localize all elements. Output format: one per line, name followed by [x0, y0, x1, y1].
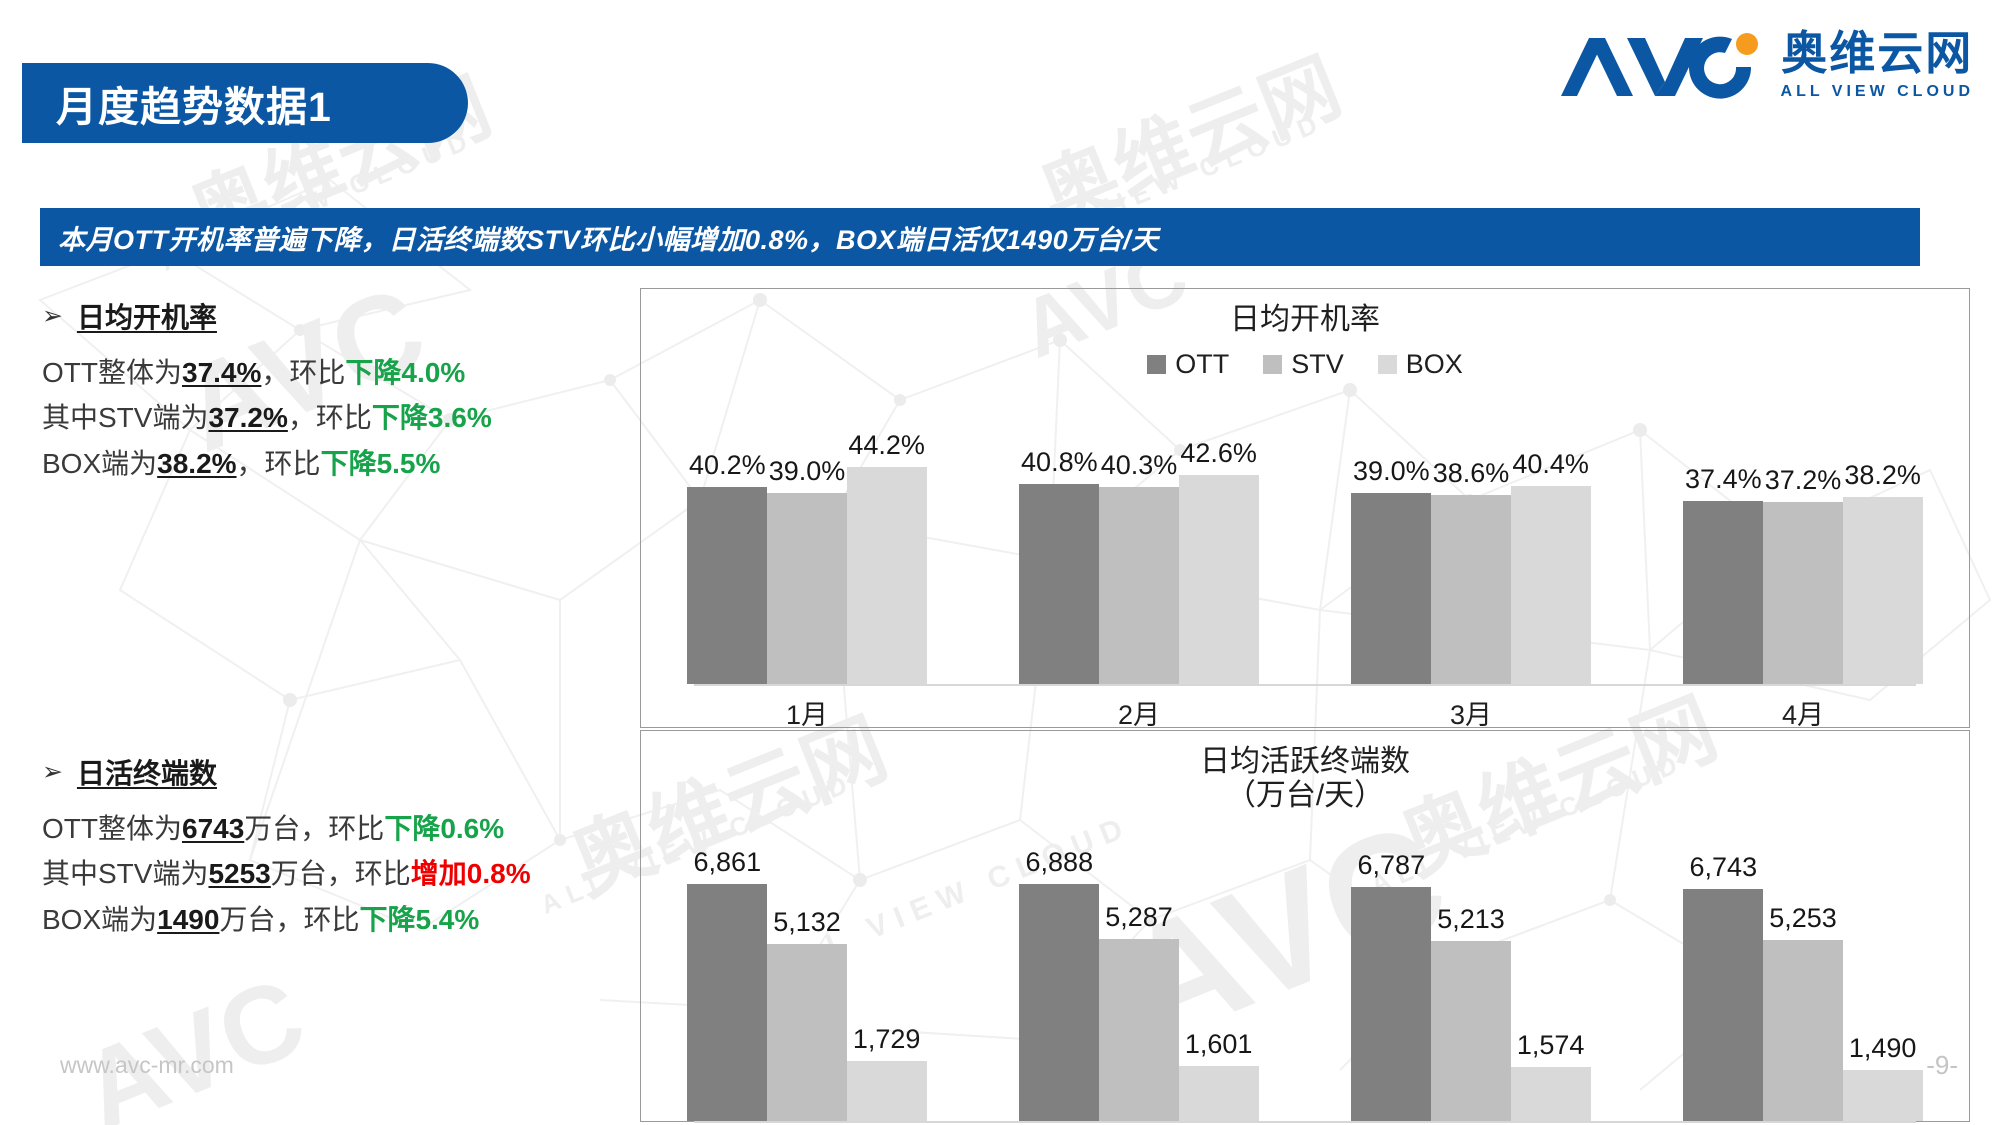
chart-axis-line	[694, 1121, 1916, 1123]
x-tick-3月: 3月	[1305, 693, 1637, 732]
page-title: 月度趋势数据1	[22, 73, 332, 133]
bar-cluster: 6,7875,2131,574	[1351, 859, 1590, 1121]
bar-cluster: 6,8615,1321,729	[687, 859, 926, 1121]
stat-value: 38.2%	[157, 448, 236, 479]
legend-swatch-icon	[1263, 355, 1282, 374]
slide-title-badge: 月度趋势数据1	[22, 63, 468, 143]
stat-middle: 万台，环比	[219, 904, 359, 935]
footer-url: www.avc-mr.com	[60, 1052, 234, 1079]
bar-value-label: 39.0%	[769, 456, 846, 487]
avc-chinese-name: 奥维云网 ALL VIEW CLOUD	[1781, 30, 1974, 101]
chart-plot-area: 40.2%39.0%44.2%40.8%40.3%42.6%39.0%38.6%…	[641, 439, 1969, 684]
chart-x-axis-labels: 1月2月3月4月	[641, 693, 1969, 732]
bar-stv-1月: 39.0%	[767, 439, 847, 684]
legend-label: OTT	[1175, 349, 1229, 380]
bar-box-2月: 1,601	[1179, 859, 1259, 1121]
chart-panel-active-terminals: 日均活跃终端数 （万台/天） 6,8615,1321,7296,8885,287…	[640, 730, 1970, 1122]
chart-title: 日均活跃终端数 （万台/天）	[641, 745, 1969, 812]
bar-rect	[1763, 940, 1843, 1121]
bar-stv-3月: 38.6%	[1431, 439, 1511, 684]
stat-middle: ，环比	[288, 402, 372, 433]
bar-ott-1月: 40.2%	[687, 439, 767, 684]
bar-cluster: 6,7435,2531,490	[1683, 859, 1922, 1121]
bar-box-4月: 1,490	[1843, 859, 1923, 1121]
chart-group-4月: 6,7435,2531,490	[1637, 859, 1969, 1121]
x-tick-1月: 1月	[641, 693, 973, 732]
section-heading-active-terminals: ➢ 日活终端数	[42, 752, 662, 792]
stat-value: 5253	[208, 858, 270, 889]
stat-line: 其中STV端为37.2%，环比下降3.6%	[42, 395, 642, 440]
bar-value-label: 39.0%	[1353, 456, 1430, 487]
section-label: 日活终端数	[77, 752, 217, 792]
stat-value: 6743	[182, 813, 244, 844]
bar-stv-2月: 40.3%	[1099, 439, 1179, 684]
bar-ott-4月: 6,743	[1683, 859, 1763, 1121]
stat-middle: 万台，环比	[244, 813, 384, 844]
bar-value-label: 38.6%	[1433, 458, 1510, 489]
bar-ott-2月: 40.8%	[1019, 439, 1099, 684]
legend-swatch-icon	[1378, 355, 1397, 374]
stat-prefix: OTT整体为	[42, 813, 182, 844]
avc-logo: 奥维云网 ALL VIEW CLOUD	[1555, 22, 1974, 108]
bar-rect	[1179, 475, 1259, 684]
chart-legend: OTTSTVBOX	[641, 349, 1969, 380]
stat-prefix: 其中STV端为	[42, 402, 208, 433]
bar-value-label: 1,574	[1517, 1030, 1585, 1061]
stat-prefix: BOX端为	[42, 904, 157, 935]
arrow-bullet-icon: ➢	[42, 760, 63, 785]
bar-rect	[847, 1061, 927, 1121]
bar-ott-2月: 6,888	[1019, 859, 1099, 1121]
chart-group-3月: 6,7875,2131,574	[1305, 859, 1637, 1121]
summary-banner: 本月OTT开机率普遍下降，日活终端数STV环比小幅增加0.8%，BOX端日活仅1…	[40, 208, 1920, 266]
bar-value-label: 6,888	[1026, 847, 1094, 878]
stat-middle: ，环比	[237, 448, 321, 479]
bar-rect	[1511, 486, 1591, 684]
bar-rect	[1099, 939, 1179, 1121]
legend-label: BOX	[1406, 349, 1463, 380]
legend-item-ott: OTT	[1147, 349, 1229, 380]
slide-canvas: 奥维云网 ALL VIEW CLOUD 奥维云网 ALL VIEW CLOUD …	[0, 0, 2000, 1125]
bar-value-label: 6,861	[694, 847, 762, 878]
chart-title-unit: （万台/天）	[641, 779, 1969, 813]
bar-rect	[1351, 887, 1431, 1121]
section-heading-boot-rate: ➢ 日均开机率	[42, 296, 642, 336]
bar-rect	[1763, 502, 1843, 684]
bar-value-label: 38.2%	[1844, 460, 1921, 491]
logo-cn-text: 奥维云网	[1781, 30, 1973, 76]
bar-value-label: 44.2%	[848, 430, 925, 461]
bar-rect	[1099, 487, 1179, 684]
bar-rect	[1431, 495, 1511, 684]
stat-value: 37.2%	[208, 402, 287, 433]
bar-stv-1月: 5,132	[767, 859, 847, 1121]
stat-trend: 下降3.6%	[372, 402, 492, 433]
bar-value-label: 5,287	[1105, 902, 1173, 933]
chart-group-2月: 40.8%40.3%42.6%	[973, 439, 1305, 684]
legend-label: STV	[1291, 349, 1344, 380]
legend-item-box: BOX	[1378, 349, 1463, 380]
bar-value-label: 1,490	[1849, 1033, 1917, 1064]
bar-box-3月: 1,574	[1511, 859, 1591, 1121]
bar-rect	[1511, 1067, 1591, 1121]
bar-cluster: 37.4%37.2%38.2%	[1683, 439, 1922, 684]
stat-prefix: OTT整体为	[42, 357, 182, 388]
bar-rect	[847, 467, 927, 684]
bar-stv-3月: 5,213	[1431, 859, 1511, 1121]
stat-value: 1490	[157, 904, 219, 935]
stat-line: BOX端为1490万台，环比下降5.4%	[42, 897, 662, 942]
x-tick-2月: 2月	[973, 693, 1305, 732]
stat-middle: 万台，环比	[271, 858, 411, 889]
bar-rect	[1683, 501, 1763, 684]
arrow-bullet-icon: ➢	[42, 304, 63, 329]
bar-cluster: 40.8%40.3%42.6%	[1019, 439, 1258, 684]
bar-value-label: 42.6%	[1180, 438, 1257, 469]
chart-group-3月: 39.0%38.6%40.4%	[1305, 439, 1637, 684]
bar-value-label: 1,729	[853, 1024, 921, 1055]
chart-title-main: 日均活跃终端数	[641, 745, 1969, 779]
bar-rect	[1431, 941, 1511, 1121]
bar-cluster: 39.0%38.6%40.4%	[1351, 439, 1590, 684]
stat-prefix: BOX端为	[42, 448, 157, 479]
bar-cluster: 6,8885,2871,601	[1019, 859, 1258, 1121]
bar-stv-4月: 5,253	[1763, 859, 1843, 1121]
stat-trend: 增加0.8%	[411, 858, 531, 889]
bar-value-label: 5,213	[1437, 904, 1505, 935]
bar-ott-3月: 6,787	[1351, 859, 1431, 1121]
bar-box-1月: 1,729	[847, 859, 927, 1121]
bar-value-label: 6,743	[1690, 852, 1758, 883]
bar-value-label: 40.2%	[689, 450, 766, 481]
insights-block-active-terminals: ➢ 日活终端数 OTT整体为6743万台，环比下降0.6% 其中STV端为525…	[42, 752, 662, 942]
bar-stv-2月: 5,287	[1099, 859, 1179, 1121]
bar-rect	[687, 487, 767, 684]
stat-value: 37.4%	[182, 357, 261, 388]
avc-wordmark-icon	[1555, 30, 1767, 100]
bar-value-label: 5,132	[773, 907, 841, 938]
bar-value-label: 6,787	[1358, 850, 1426, 881]
chart-group-4月: 37.4%37.2%38.2%	[1637, 439, 1969, 684]
bar-box-4月: 38.2%	[1843, 439, 1923, 684]
bar-ott-4月: 37.4%	[1683, 439, 1763, 684]
stat-line: 其中STV端为5253万台，环比增加0.8%	[42, 851, 662, 896]
legend-item-stv: STV	[1263, 349, 1344, 380]
stat-trend: 下降0.6%	[384, 813, 504, 844]
bar-box-2月: 42.6%	[1179, 439, 1259, 684]
stat-trend: 下降5.4%	[359, 904, 479, 935]
stat-line: BOX端为38.2%，环比下降5.5%	[42, 441, 642, 486]
bar-rect	[1351, 493, 1431, 684]
bar-value-label: 37.2%	[1765, 465, 1842, 496]
bar-ott-1月: 6,861	[687, 859, 767, 1121]
chart-group-2月: 6,8885,2871,601	[973, 859, 1305, 1121]
stat-trend: 下降4.0%	[345, 357, 465, 388]
bar-value-label: 40.3%	[1101, 450, 1178, 481]
bar-box-1月: 44.2%	[847, 439, 927, 684]
bar-value-label: 40.8%	[1021, 447, 1098, 478]
chart-group-1月: 40.2%39.0%44.2%	[641, 439, 973, 684]
bar-cluster: 40.2%39.0%44.2%	[687, 439, 926, 684]
stat-middle: ，环比	[261, 357, 345, 388]
legend-swatch-icon	[1147, 355, 1166, 374]
bar-value-label: 40.4%	[1512, 449, 1589, 480]
stat-prefix: 其中STV端为	[42, 858, 208, 889]
chart-group-1月: 6,8615,1321,729	[641, 859, 973, 1121]
bar-rect	[1843, 1070, 1923, 1121]
bar-ott-3月: 39.0%	[1351, 439, 1431, 684]
chart-panel-boot-rate: 日均开机率 OTTSTVBOX 40.2%39.0%44.2%40.8%40.3…	[640, 288, 1970, 728]
bar-rect	[767, 493, 847, 684]
bar-rect	[687, 884, 767, 1121]
bar-rect	[1179, 1066, 1259, 1121]
section-label: 日均开机率	[77, 296, 217, 336]
stat-trend: 下降5.5%	[321, 448, 441, 479]
bar-rect	[1019, 484, 1099, 684]
bar-stv-4月: 37.2%	[1763, 439, 1843, 684]
chart-axis-line	[694, 684, 1916, 686]
stat-line: OTT整体为6743万台，环比下降0.6%	[42, 806, 662, 851]
bar-value-label: 37.4%	[1685, 464, 1762, 495]
x-tick-4月: 4月	[1637, 693, 1969, 732]
summary-banner-text: 本月OTT开机率普遍下降，日活终端数STV环比小幅增加0.8%，BOX端日活仅1…	[40, 218, 1159, 257]
chart-plot-area: 6,8615,1321,7296,8885,2871,6016,7875,213…	[641, 859, 1969, 1121]
stat-line: OTT整体为37.4%，环比下降4.0%	[42, 350, 642, 395]
bar-box-3月: 40.4%	[1511, 439, 1591, 684]
logo-en-text: ALL VIEW CLOUD	[1781, 83, 1974, 101]
bar-rect	[1843, 497, 1923, 684]
bar-rect	[767, 944, 847, 1121]
page-number: -9-	[1926, 1050, 1958, 1081]
chart-title: 日均开机率	[641, 303, 1969, 337]
bar-value-label: 1,601	[1185, 1029, 1253, 1060]
bar-rect	[1683, 889, 1763, 1121]
bar-rect	[1019, 884, 1099, 1121]
insights-block-boot-rate: ➢ 日均开机率 OTT整体为37.4%，环比下降4.0% 其中STV端为37.2…	[42, 296, 642, 486]
bar-value-label: 5,253	[1769, 903, 1837, 934]
